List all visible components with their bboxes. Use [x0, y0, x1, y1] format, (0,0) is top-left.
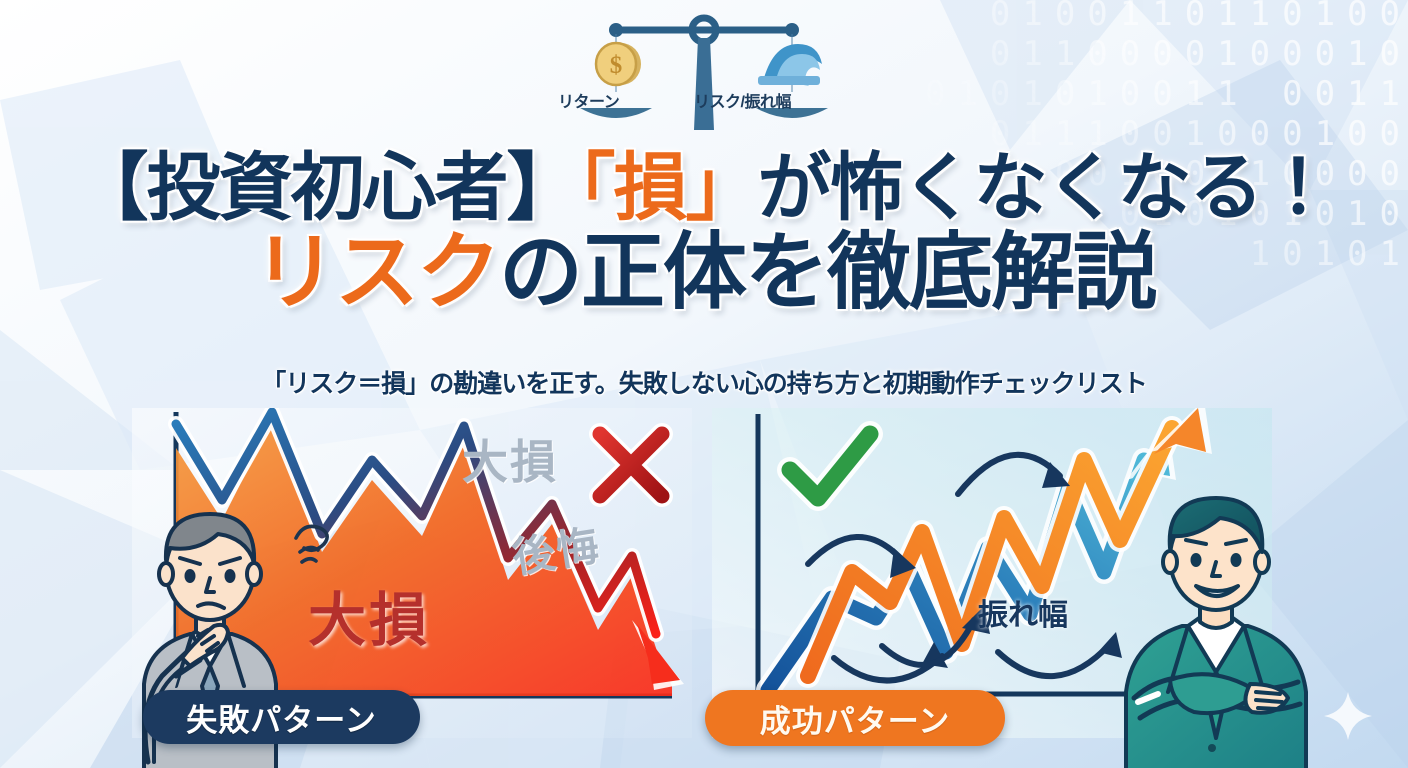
svg-text:$: $ — [610, 52, 623, 79]
success-badge[interactable]: 成功パターン — [705, 690, 1005, 746]
wave-icon — [758, 44, 822, 86]
failure-badge[interactable]: 失敗パターン — [143, 690, 420, 744]
confident-businessman-illustration — [1110, 466, 1320, 768]
scale-right-label: リスク/振れ幅 — [694, 88, 791, 112]
comparison-panels: 大損 後悔 大損 — [0, 408, 1408, 768]
scale-left-label: リターン — [558, 88, 619, 112]
subtitle: 「リスク＝損」の勘違いを正す。失敗しない心の持ち方と初期動作チェックリスト — [0, 364, 1408, 400]
check-mark-icon — [774, 418, 884, 518]
cross-mark-icon — [576, 410, 686, 520]
gold-coin-icon: $ — [596, 43, 641, 85]
confusion-squiggle-icon — [282, 508, 342, 578]
poster-canvas: 0100110110100 0110000100010 0101010011 0… — [0, 0, 1408, 768]
balance-scale-icon: $ リターン リスク/振れ幅 — [554, 4, 854, 134]
